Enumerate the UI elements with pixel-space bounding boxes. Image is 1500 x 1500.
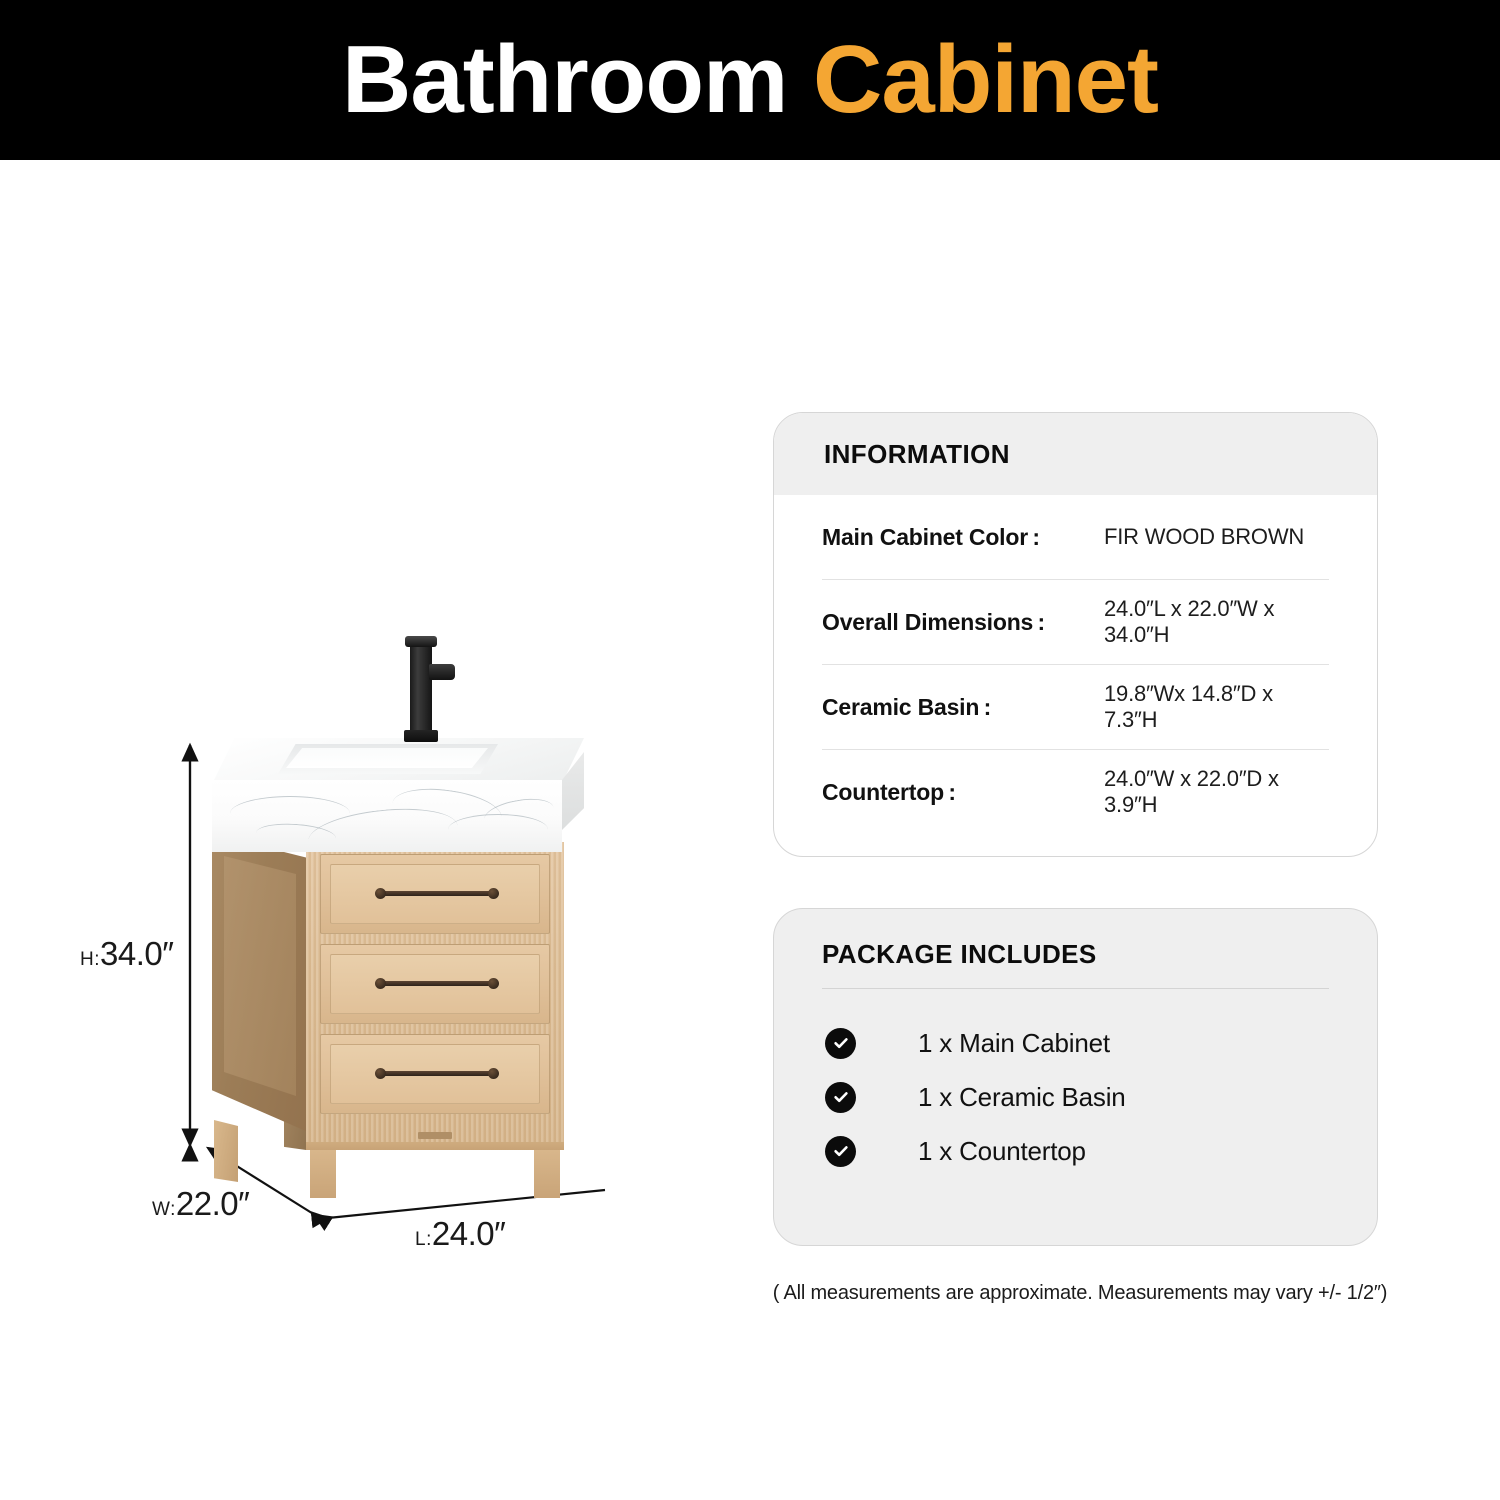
info-key: Main Cabinet Color : [822,524,1104,551]
check-circle-icon [825,1136,856,1167]
faucet-handle-icon [429,664,455,680]
drawer-bottom[interactable] [320,1034,550,1114]
dimension-label-width: W:22.0″ [152,1185,249,1223]
info-value: 24.0″W x 22.0″D x 3.9″H [1104,766,1329,818]
info-value: 24.0″L x 22.0″W x 34.0″H [1104,596,1329,648]
drawer-pull-handle[interactable] [381,981,493,986]
package-item-label: 1 x Ceramic Basin [918,1082,1126,1113]
dimension-value-width: 22.0″ [176,1185,249,1222]
info-key: Overall Dimensions : [822,609,1104,636]
drawer-pull-handle[interactable] [381,891,493,896]
table-row: Overall Dimensions : 24.0″L x 22.0″W x 3… [822,580,1329,665]
vanity-cabinet-image [200,620,620,1200]
faucet-body-icon [410,642,432,737]
list-item: 1 x Ceramic Basin [822,1071,1329,1123]
cabinet-front [306,842,564,1142]
page-title-accent: Cabinet [813,26,1158,133]
check-circle-icon [825,1082,856,1113]
package-items-list: 1 x Main Cabinet 1 x Ceramic Basin 1 x C… [822,989,1329,1177]
countertop-front-edge [212,780,562,852]
drawer-top[interactable] [320,854,550,934]
dimension-label-height: H:34.0″ [80,935,173,973]
table-row: Countertop : 24.0″W x 22.0″D x 3.9″H [822,750,1329,834]
ceramic-basin-bowl [286,748,488,768]
package-item-label: 1 x Countertop [918,1136,1086,1167]
product-illustration: H:34.0″ W:22.0″ L:24.0″ [60,600,720,1300]
info-value: 19.8″Wx 14.8″D x 7.3″H [1104,681,1329,733]
page-title: Bathroom Cabinet [342,32,1158,128]
check-circle-icon [825,1028,856,1059]
information-card-body: Main Cabinet Color : FIR WOOD BROWN Over… [774,495,1377,834]
info-value: FIR WOOD BROWN [1104,524,1304,550]
package-card-header: PACKAGE INCLUDES [822,909,1329,989]
dimension-prefix-width: W: [152,1199,176,1220]
info-key: Ceramic Basin : [822,694,1104,721]
cabinet-side-inset [224,856,296,1096]
list-item: 1 x Main Cabinet [822,1017,1329,1069]
list-item: 1 x Countertop [822,1125,1329,1177]
cabinet-leg-front-left [214,1120,238,1182]
package-card-title: PACKAGE INCLUDES [822,939,1097,969]
information-card-title: INFORMATION [824,439,1010,470]
dimension-prefix-height: H: [80,949,100,970]
faucet-cap-icon [405,636,437,647]
faucet-base-icon [404,730,438,742]
information-card: INFORMATION Main Cabinet Color : FIR WOO… [773,412,1378,857]
dimension-prefix-length: L: [415,1229,432,1250]
header-bar: Bathroom Cabinet [0,0,1500,160]
dimension-label-length: L:24.0″ [415,1215,505,1253]
cabinet-apron-notch [418,1132,452,1139]
drawer-middle[interactable] [320,944,550,1024]
dimension-value-length: 24.0″ [432,1215,505,1252]
info-key: Countertop : [822,779,1104,806]
measurement-disclaimer: ( All measurements are approximate. Meas… [740,1282,1420,1305]
package-includes-card: PACKAGE INCLUDES 1 x Main Cabinet 1 x Ce… [773,908,1378,1246]
table-row: Ceramic Basin : 19.8″Wx 14.8″D x 7.3″H [822,665,1329,750]
page-title-primary: Bathroom [342,26,813,133]
information-card-header: INFORMATION [774,413,1377,495]
table-row: Main Cabinet Color : FIR WOOD BROWN [822,495,1329,580]
drawer-pull-handle[interactable] [381,1071,493,1076]
dimension-value-height: 34.0″ [100,935,173,972]
package-item-label: 1 x Main Cabinet [918,1028,1110,1059]
